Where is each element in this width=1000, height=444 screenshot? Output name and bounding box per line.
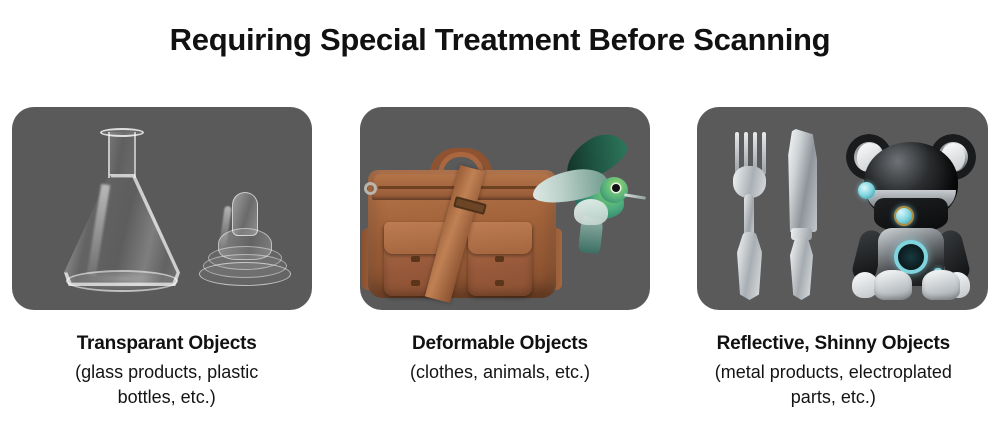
infographic-page: Requiring Special Treatment Before Scann… — [0, 0, 1000, 444]
cutlery-group — [721, 124, 831, 300]
caption-description: (metal products, electroplated parts, et… — [667, 360, 1000, 410]
caption-heading: Transparant Objects — [0, 332, 333, 356]
caption-heading: Reflective, Shinny Objects — [667, 332, 1000, 356]
caption-reflective-objects: Reflective, Shinny Objects (metal produc… — [667, 332, 1000, 409]
panel-deformable-stage — [360, 107, 650, 310]
erlenmeyer-flask-icon — [64, 132, 180, 292]
caption-transparent-objects: Transparant Objects (glass products, pla… — [0, 332, 333, 409]
chrome-robot-bear-icon — [840, 132, 982, 302]
caption-description: (clothes, animals, etc.) — [333, 360, 666, 385]
caption-row: Transparant Objects (glass products, pla… — [0, 332, 1000, 409]
fork-icon — [729, 132, 767, 300]
baby-bottle-nipple-icon — [198, 192, 292, 290]
caption-heading: Deformable Objects — [333, 332, 666, 356]
panel-reflective-stage — [697, 107, 988, 310]
panel-transparent-stage — [12, 107, 312, 310]
panel-transparent-objects — [12, 107, 312, 310]
panel-reflective-objects — [697, 107, 988, 310]
caption-description: (glass products, plastic bottles, etc.) — [0, 360, 333, 410]
page-title: Requiring Special Treatment Before Scann… — [0, 22, 1000, 58]
table-knife-icon — [783, 128, 819, 300]
panel-deformable-objects — [360, 107, 650, 310]
caption-deformable-objects: Deformable Objects (clothes, animals, et… — [333, 332, 666, 409]
hummingbird-icon — [528, 137, 644, 255]
panel-row — [12, 107, 988, 310]
